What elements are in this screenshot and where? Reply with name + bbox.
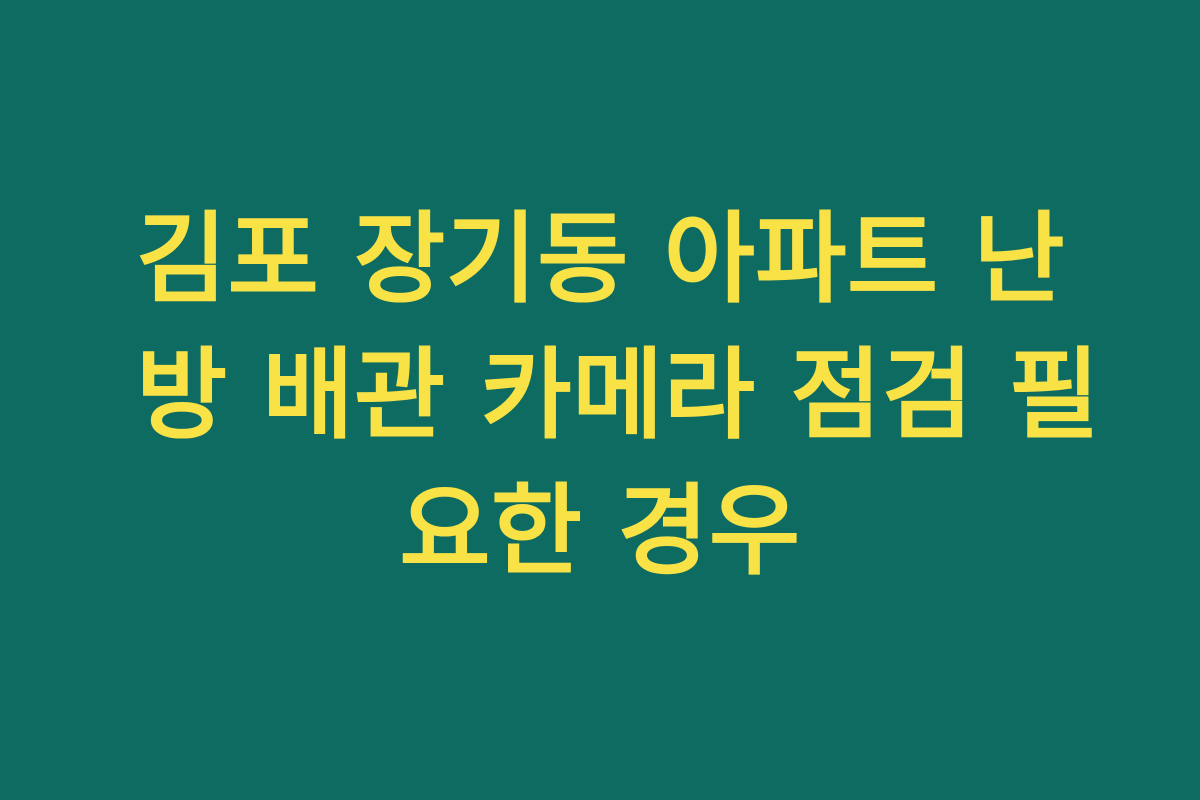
title-line-1: 김포 장기동 아파트 난 xyxy=(136,192,1064,328)
title-line-3: 요한 경우 xyxy=(136,464,1064,600)
title-line-2: 방 배관 카메라 점검 필 xyxy=(136,328,1064,464)
title-block: 김포 장기동 아파트 난 방 배관 카메라 점검 필 요한 경우 xyxy=(120,192,1080,600)
thumbnail-card: 김포 장기동 아파트 난 방 배관 카메라 점검 필 요한 경우 xyxy=(0,0,1200,800)
